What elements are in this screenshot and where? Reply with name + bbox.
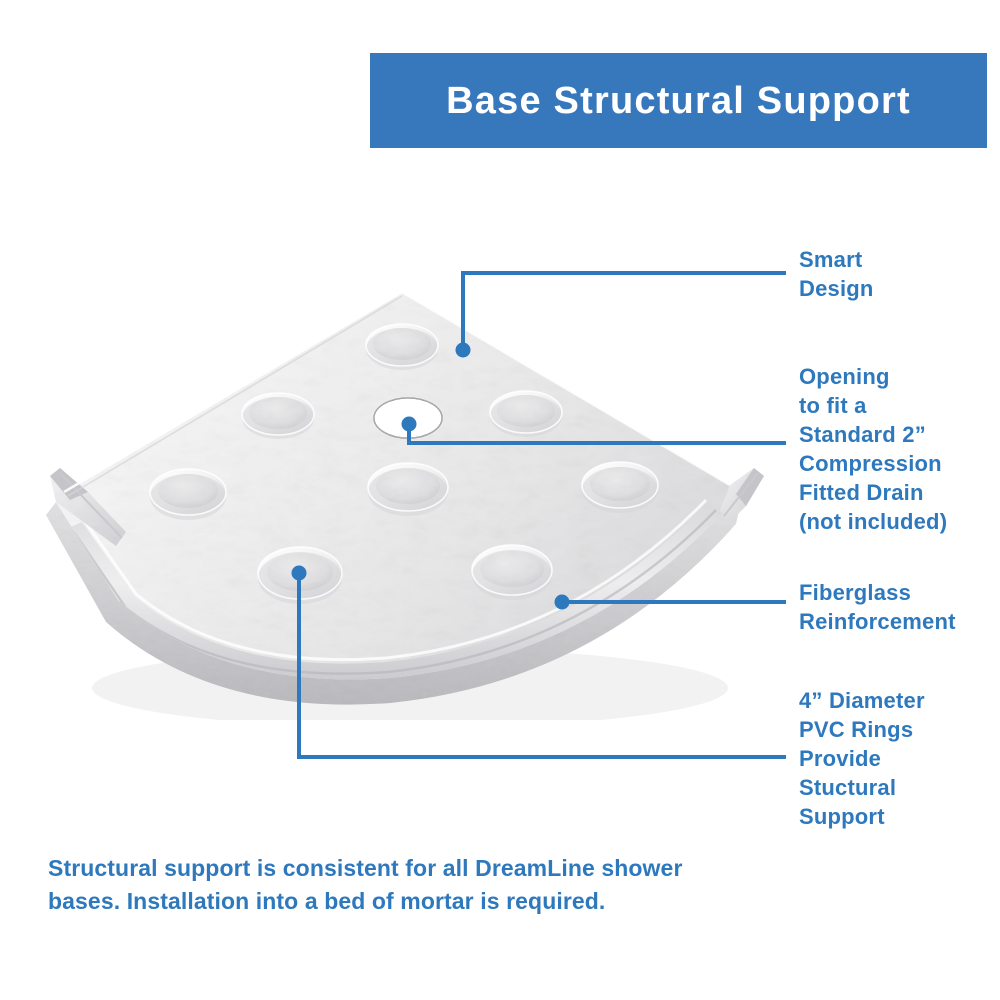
callout-line: Opening — [799, 362, 999, 391]
callout-label-smart-design: Smart Design — [799, 245, 994, 303]
callout-label-drain-opening: Opening to fit a Standard 2” Compression… — [799, 362, 999, 536]
callout-line: Design — [799, 274, 994, 303]
pvc-ring — [258, 547, 342, 604]
pvc-ring — [490, 391, 562, 437]
footer-caption: Structural support is consistent for all… — [48, 852, 688, 917]
callout-line: Fiberglass — [799, 578, 999, 607]
callout-line: Provide — [799, 744, 994, 773]
callout-line: Support — [799, 802, 994, 831]
pvc-ring — [472, 545, 552, 600]
callout-line: Fitted Drain — [799, 478, 999, 507]
pvc-ring — [150, 469, 226, 520]
callout-label-fiberglass: Fiberglass Reinforcement — [799, 578, 999, 636]
pvc-ring — [368, 463, 448, 516]
drain-opening — [374, 398, 442, 438]
callout-line: PVC Rings — [799, 715, 994, 744]
product-illustration — [30, 270, 790, 720]
pvc-ring — [366, 324, 438, 370]
callout-line: Smart — [799, 245, 994, 274]
callout-line: Stuctural — [799, 773, 994, 802]
callout-line: Reinforcement — [799, 607, 999, 636]
pvc-ring — [242, 393, 314, 439]
infographic-page: Base Structural Support — [0, 0, 1000, 1000]
callout-label-pvc-rings: 4” Diameter PVC Rings Provide Stuctural … — [799, 686, 994, 831]
callout-line: to fit a — [799, 391, 999, 420]
pvc-ring — [582, 462, 658, 513]
callout-line: Compression — [799, 449, 999, 478]
page-title: Base Structural Support — [446, 82, 911, 120]
callout-line: (not included) — [799, 507, 999, 536]
header-banner: Base Structural Support — [370, 53, 987, 148]
callout-line: 4” Diameter — [799, 686, 994, 715]
callout-line: Standard 2” — [799, 420, 999, 449]
